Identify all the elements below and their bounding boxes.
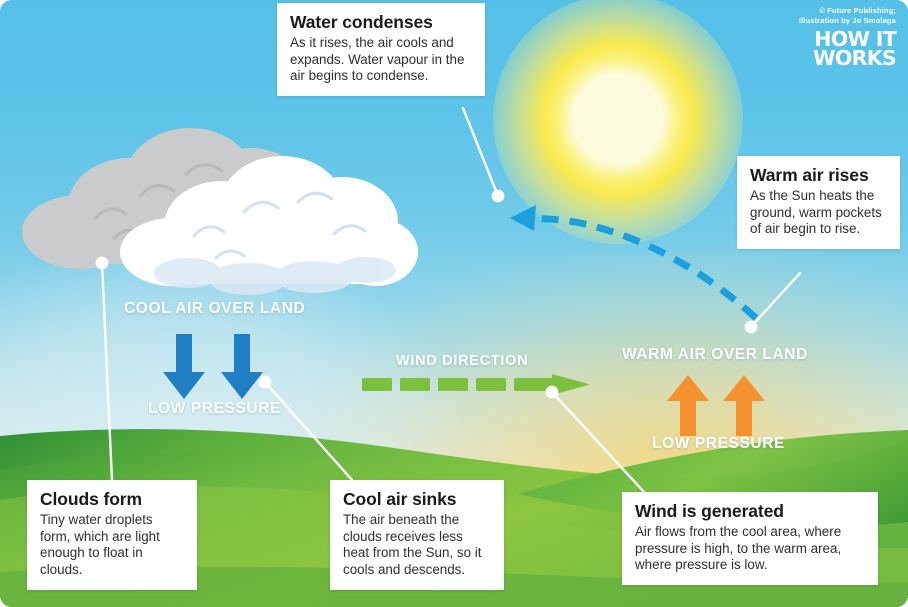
warm-air-up-arrow-2	[722, 375, 766, 437]
warm-air-up-arrow-1	[666, 375, 710, 437]
condensation-flow-arrow	[470, 190, 780, 350]
callout-body: The air beneath the clouds receives less…	[343, 512, 491, 580]
callout-body: As it rises, the air cools and expands. …	[290, 35, 472, 86]
callout-water-condenses[interactable]: Water condenses As it rises, the air coo…	[277, 3, 485, 96]
credit-line-2: Illustration by Jo Smolaga	[799, 16, 896, 26]
callout-heading: Clouds form	[40, 489, 184, 510]
callout-clouds-form[interactable]: Clouds form Tiny water droplets form, wh…	[27, 480, 197, 590]
callout-body: Tiny water droplets form, which are ligh…	[40, 512, 184, 580]
infographic-canvas: COOL AIR OVER LAND LOW PRESSURE WARM AIR…	[0, 0, 908, 607]
logo-line-2: WORKS	[799, 49, 896, 68]
callout-heading: Cool air sinks	[343, 489, 491, 510]
brand-block: © Future Publishing; Illustration by Jo …	[799, 6, 896, 68]
callout-body: As the Sun heats the ground, warm pocket…	[750, 188, 887, 239]
callout-warm-air-rises[interactable]: Warm air rises As the Sun heats the grou…	[737, 156, 900, 249]
credit-line-1: © Future Publishing;	[799, 6, 896, 16]
callout-wind-is-generated[interactable]: Wind is generated Air flows from the coo…	[622, 492, 878, 585]
wind-direction-arrow	[362, 370, 592, 402]
callout-body: Air flows from the cool area, where pres…	[635, 524, 865, 575]
label-cool-low-pressure: LOW PRESSURE	[148, 400, 281, 418]
white-cloud	[118, 140, 418, 300]
label-warm-low-pressure: LOW PRESSURE	[652, 435, 785, 453]
callout-heading: Warm air rises	[750, 165, 887, 186]
label-cool-air-over-land: COOL AIR OVER LAND	[124, 300, 305, 318]
label-wind-direction: WIND DIRECTION	[396, 353, 528, 369]
callout-cool-air-sinks[interactable]: Cool air sinks The air beneath the cloud…	[330, 480, 504, 590]
callout-heading: Wind is generated	[635, 501, 865, 522]
how-it-works-logo: HOW IT WORKS	[799, 30, 896, 68]
cool-air-down-arrow-1	[162, 334, 206, 400]
callout-heading: Water condenses	[290, 12, 472, 33]
cool-air-down-arrow-2	[220, 334, 264, 400]
